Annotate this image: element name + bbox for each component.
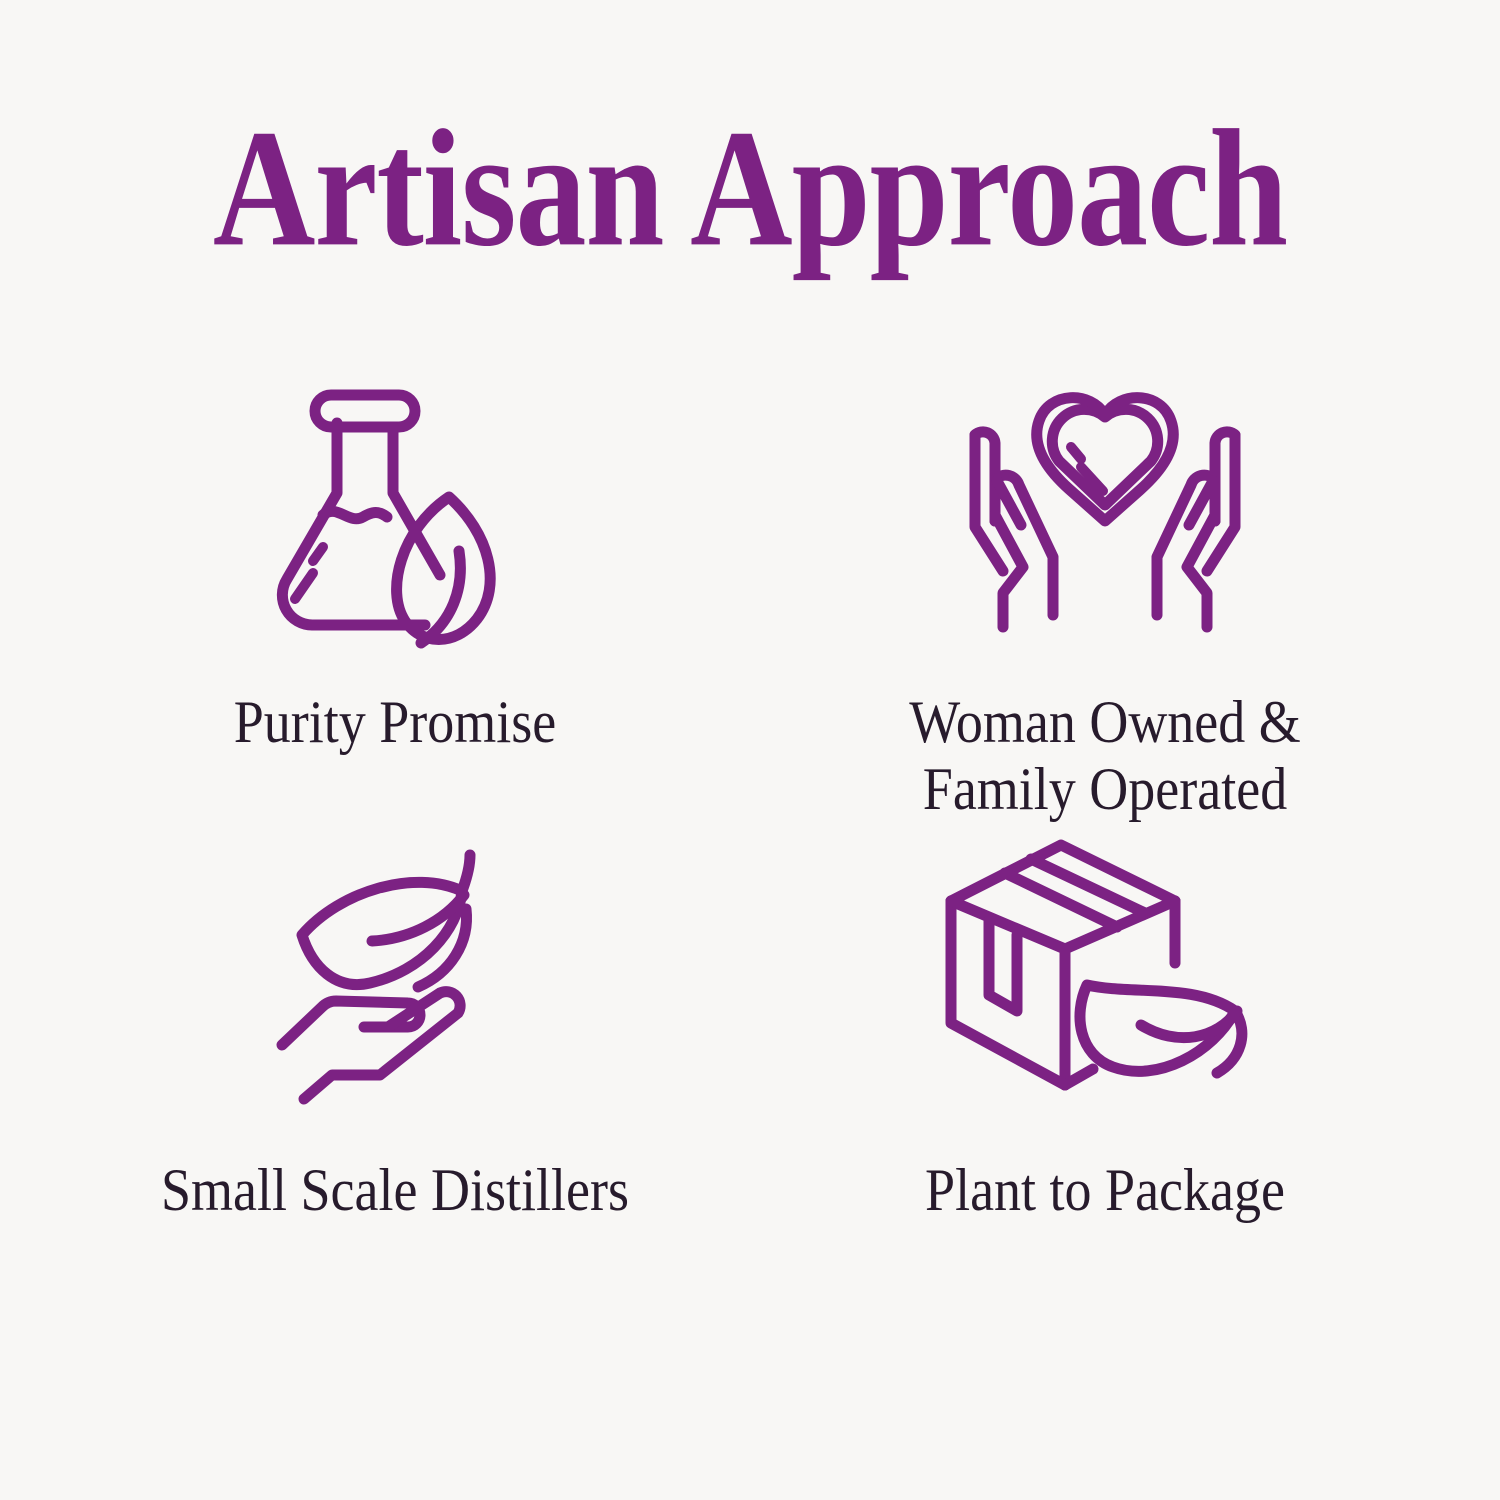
feature-item-plant-to-package: Plant to Package [750, 830, 1460, 1300]
hands-holding-heart-icon [945, 360, 1265, 660]
page-title-container: Artisan Approach [0, 104, 1500, 246]
hand-holding-leaf-icon [270, 830, 520, 1098]
feature-grid: Purity Promise [40, 360, 1460, 1300]
feature-item-small-scale-distillers: Small Scale Distillers [40, 830, 750, 1300]
flask-leaf-icon [265, 360, 525, 660]
page-title: Artisan Approach [213, 104, 1287, 272]
feature-item-purity-promise: Purity Promise [40, 360, 750, 830]
feature-item-woman-owned: Woman Owned & Family Operated [750, 360, 1460, 830]
feature-label-plant-to-package: Plant to Package [925, 1156, 1285, 1224]
feature-label-woman-owned: Woman Owned & Family Operated [909, 688, 1301, 823]
artisan-approach-panel: Artisan Approach [0, 0, 1500, 1500]
feature-label-purity-promise: Purity Promise [234, 688, 557, 756]
box-leaf-icon [935, 830, 1275, 1098]
feature-label-small-scale-distillers: Small Scale Distillers [161, 1156, 629, 1224]
